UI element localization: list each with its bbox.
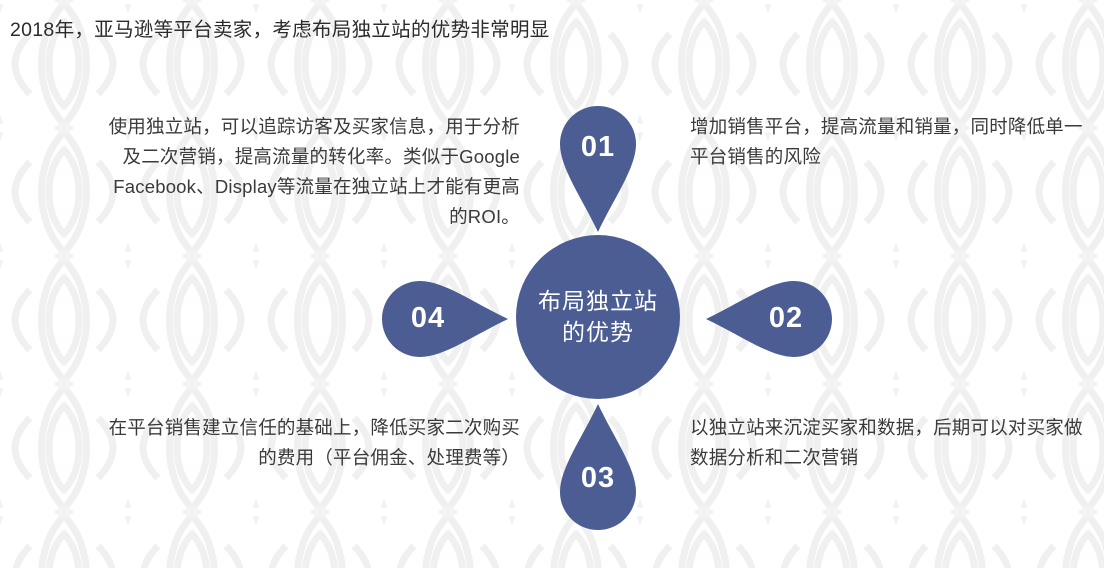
- slide-canvas: 2018年，亚马逊等平台卖家，考虑布局独立站的优势非常明显 使用独立站，可以追踪…: [0, 0, 1104, 568]
- marker-04-number: 04: [382, 304, 474, 333]
- description-top-left: 使用独立站，可以追踪访客及买家信息，用于分析及二次营销，提高流量的转化率。类似于…: [108, 112, 520, 232]
- marker-03[interactable]: 03: [552, 400, 644, 530]
- description-bottom-right: 以独立站来沉淀买家和数据，后期可以对买家做数据分析和二次营销: [690, 413, 1090, 473]
- marker-01[interactable]: 01: [552, 106, 644, 236]
- marker-02[interactable]: 02: [702, 276, 832, 362]
- description-bottom-left: 在平台销售建立信任的基础上，降低买家二次购买的费用（平台佣金、处理费等）: [108, 413, 520, 473]
- marker-04[interactable]: 04: [382, 276, 512, 362]
- center-node-label: 布局独立站 的优势: [533, 286, 663, 348]
- center-label-line-2: 的优势: [562, 319, 634, 345]
- page-title: 2018年，亚马逊等平台卖家，考虑布局独立站的优势非常明显: [10, 16, 550, 44]
- marker-01-number: 01: [552, 133, 644, 162]
- marker-02-number: 02: [740, 304, 832, 333]
- center-node[interactable]: 布局独立站 的优势: [516, 235, 680, 399]
- marker-03-number: 03: [552, 464, 644, 493]
- map-pin-icon: [552, 106, 644, 236]
- center-label-line-1: 布局独立站: [538, 288, 658, 314]
- description-top-right: 增加销售平台，提高流量和销量，同时降低单一平台销售的风险: [690, 112, 1090, 172]
